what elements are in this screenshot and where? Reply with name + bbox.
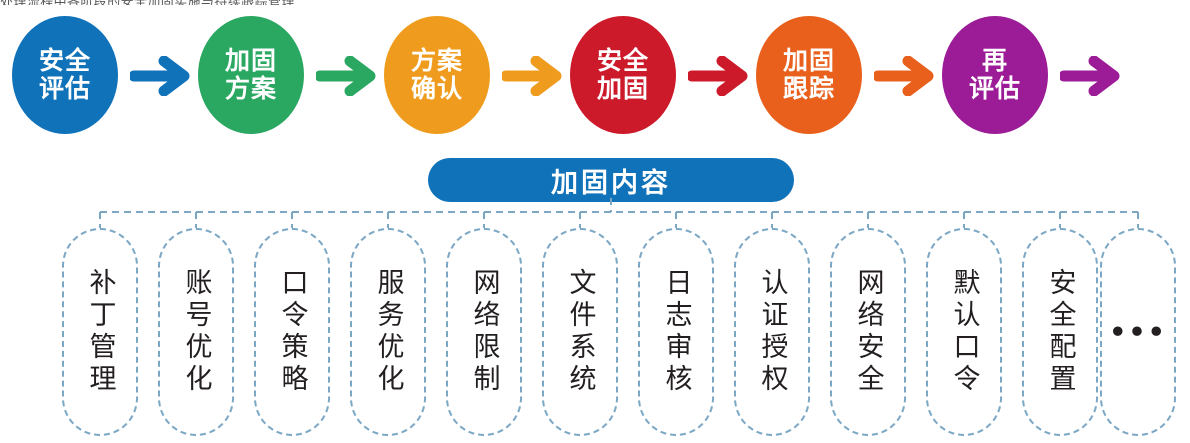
diagram-canvas: 处理流程中各阶段的安全加固实施与持续跟踪管理 安全评估加固方案方案确认安全加固加… <box>0 0 1190 443</box>
flow-node-label-line2: 确认 <box>411 75 463 103</box>
flow-node-label-line1: 安全 <box>39 47 91 75</box>
hardening-item-label: 日志审核 <box>663 268 690 396</box>
hardening-item-auth-authorization: 认证授权 <box>734 228 810 436</box>
hardening-item-service-optimization: 服务优化 <box>350 228 426 436</box>
flow-node-label-line1: 加固 <box>783 47 835 75</box>
flow-arrow-4-icon <box>688 56 750 96</box>
flow-node-label-line2: 方案 <box>225 75 277 103</box>
hardening-item-patch-management: 补丁管理 <box>62 228 138 436</box>
hardening-item-label: 口令策略 <box>279 268 306 396</box>
hardening-item-network-restriction: 网络限制 <box>446 228 522 436</box>
hardening-item-label: 账号优化 <box>183 268 210 396</box>
hardening-item-label: 服务优化 <box>375 268 402 396</box>
hardening-item-log-audit: 日志审核 <box>638 228 714 436</box>
flow-node-label-line1: 安全 <box>597 47 649 75</box>
cut-off-header-text: 处理流程中各阶段的安全加固实施与持续跟踪管理 <box>0 0 1190 5</box>
hardening-item-account-optimization: 账号优化 <box>158 228 234 436</box>
flow-arrow-3-icon <box>502 56 564 96</box>
flow-arrow-5-icon <box>874 56 936 96</box>
flow-node-label-line2: 加固 <box>597 75 649 103</box>
flow-node-plan-confirmation: 方案确认 <box>384 16 490 134</box>
hardening-content-banner: 加固内容 <box>428 158 794 202</box>
hardening-item-password-policy: 口令策略 <box>254 228 330 436</box>
hardening-item-more: ••• <box>1100 228 1176 436</box>
flow-node-label-line2: 评估 <box>39 75 91 103</box>
flow-node-hardening-plan: 加固方案 <box>198 16 304 134</box>
banner-title: 加固内容 <box>551 161 671 200</box>
hardening-item-label: 默认口令 <box>951 268 978 396</box>
hardening-item-label: 文件系统 <box>567 268 594 396</box>
flow-node-label-line1: 加固 <box>225 47 277 75</box>
flow-node-security-assessment: 安全评估 <box>12 16 118 134</box>
hardening-item-label: 补丁管理 <box>87 268 114 396</box>
flow-node-label-line1: 方案 <box>411 47 463 75</box>
hardening-item-network-security: 网络安全 <box>830 228 906 436</box>
flow-node-hardening-tracking: 加固跟踪 <box>756 16 862 134</box>
hardening-item-file-system: 文件系统 <box>542 228 618 436</box>
hardening-item-label: 认证授权 <box>759 268 786 396</box>
flow-node-security-hardening: 安全加固 <box>570 16 676 134</box>
hardening-item-security-config: 安全配置 <box>1022 228 1098 436</box>
hardening-items-row: 补丁管理账号优化口令策略服务优化网络限制文件系统日志审核认证授权网络安全默认口令… <box>0 228 1190 440</box>
hardening-item-default-password: 默认口令 <box>926 228 1002 436</box>
process-flow: 安全评估加固方案方案确认安全加固加固跟踪再评估 <box>0 16 1190 138</box>
hardening-item-label: 网络安全 <box>855 268 882 396</box>
hardening-item-label: 网络限制 <box>471 268 498 396</box>
flow-node-label-line2: 评估 <box>969 75 1021 103</box>
hardening-item-label: 安全配置 <box>1047 268 1074 396</box>
flow-arrow-2-icon <box>316 56 378 96</box>
flow-arrow-1-icon <box>130 56 192 96</box>
flow-node-re-assessment: 再评估 <box>942 16 1048 134</box>
flow-arrow-6-icon <box>1060 56 1122 96</box>
flow-node-label-line1: 再 <box>982 47 1008 75</box>
flow-node-label-line2: 跟踪 <box>783 75 835 103</box>
more-ellipsis: ••• <box>1109 319 1167 346</box>
